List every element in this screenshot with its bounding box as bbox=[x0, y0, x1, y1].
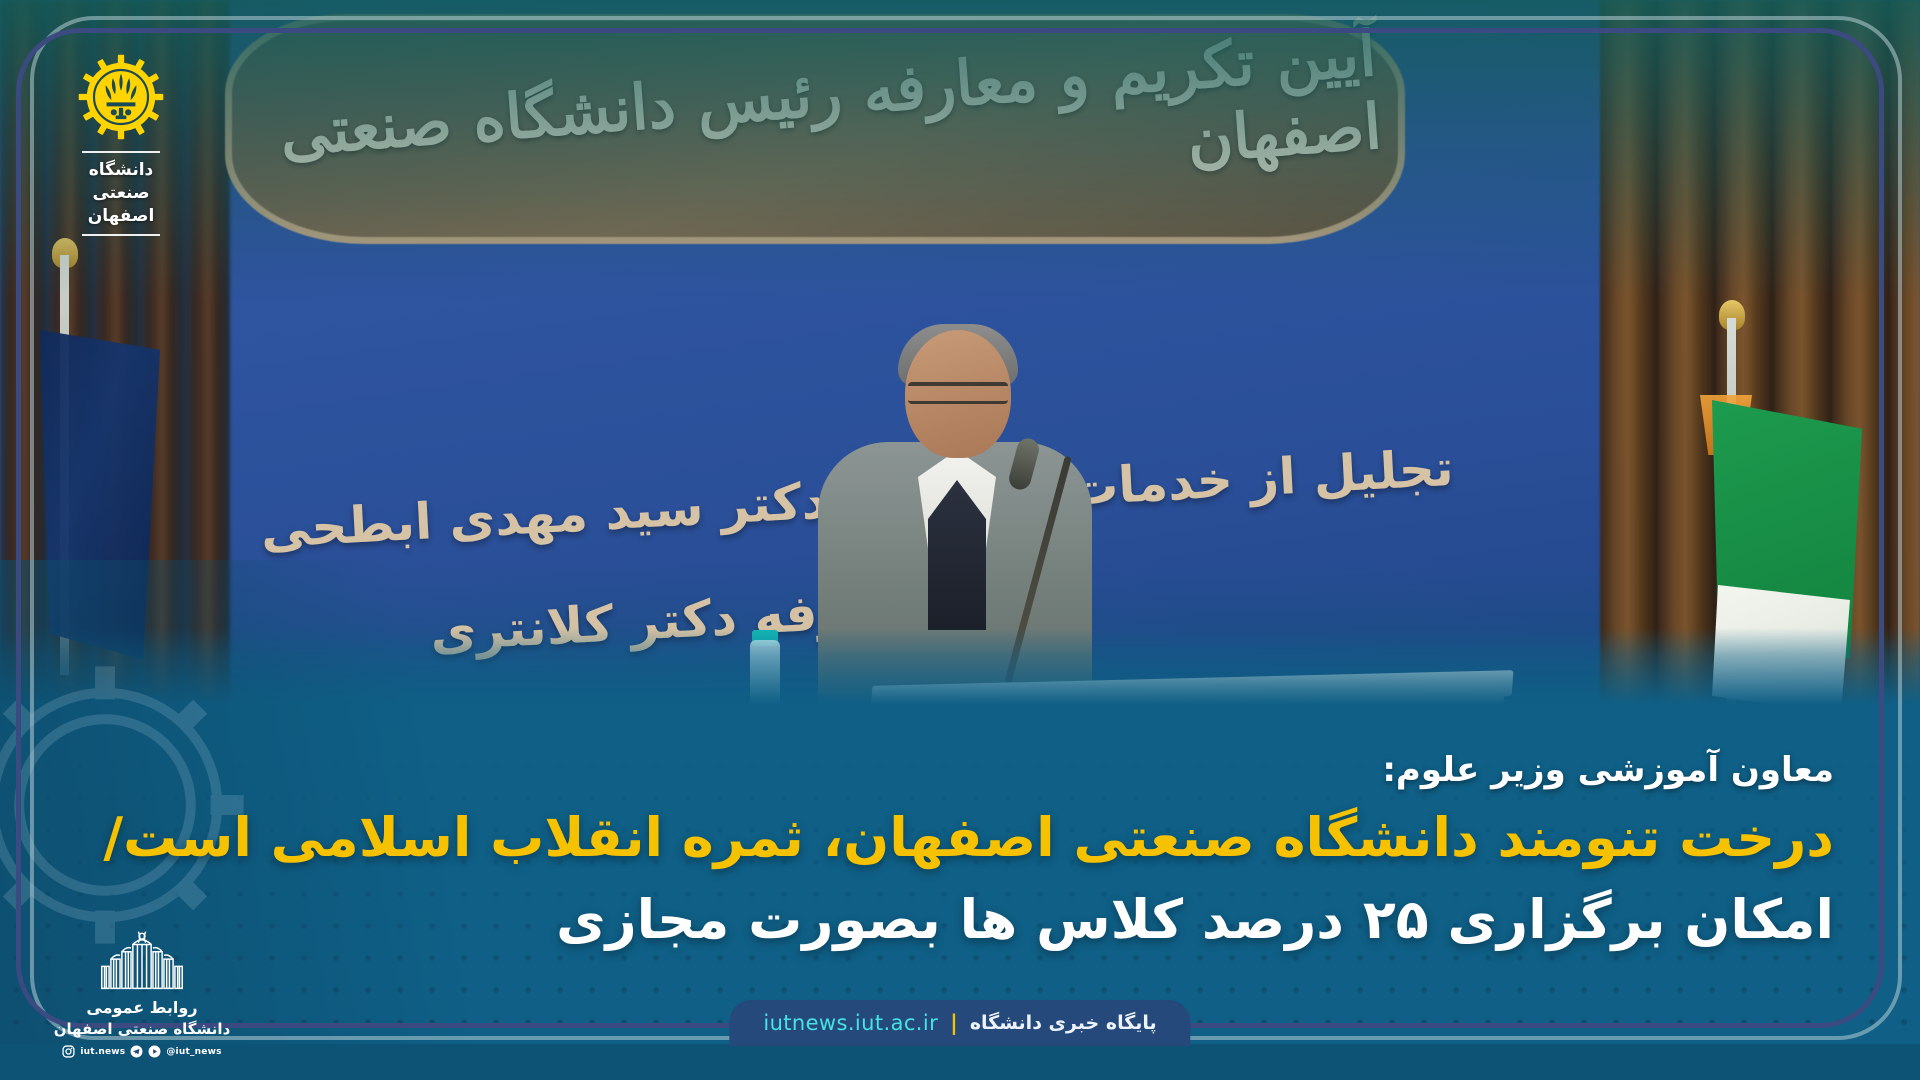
headline-kicker: معاون آموزشی وزیر علوم: bbox=[1382, 750, 1834, 790]
footer-site-label: پایگاه خبری دانشگاه bbox=[970, 1012, 1157, 1034]
pr-social-row: iut.news @iut_news bbox=[52, 1045, 232, 1058]
headline-line-2: امکان برگزاری ۲۵ درصد کلاس ها بصورت مجاز… bbox=[150, 888, 1834, 951]
telegram-icon[interactable] bbox=[130, 1045, 143, 1058]
iut-towers-emblem-icon bbox=[86, 928, 198, 992]
university-name-line2: صنعتی bbox=[62, 182, 180, 205]
footer-site-tab[interactable]: پایگاه خبری دانشگاه | iutnews.iut.ac.ir bbox=[729, 1000, 1190, 1046]
instagram-icon[interactable] bbox=[62, 1045, 75, 1058]
aparat-icon[interactable] bbox=[148, 1045, 161, 1058]
university-name-line1: دانشگاه bbox=[62, 159, 180, 182]
logo-divider-bottom bbox=[82, 234, 160, 236]
iut-gear-emblem-icon bbox=[76, 52, 166, 142]
university-logo: دانشگاه صنعتی اصفهان bbox=[62, 52, 180, 236]
news-banner-poster: آیین تکریم و معارفه رئیس دانشگاه صنعتی ا… bbox=[0, 0, 1920, 1080]
public-relations-logo: روابط عمومی دانشگاه صنعتی اصفهان iut.new… bbox=[52, 928, 232, 1058]
university-name-line3: اصفهان bbox=[62, 205, 180, 228]
pr-logo-line1: روابط عمومی bbox=[52, 998, 232, 1017]
pr-logo-line2: دانشگاه صنعتی اصفهان bbox=[52, 1020, 232, 1038]
footer-site-url[interactable]: iutnews.iut.ac.ir bbox=[763, 1011, 938, 1035]
footer-bar bbox=[0, 1044, 1920, 1080]
eyeglasses-icon bbox=[908, 382, 1008, 404]
footer-separator: | bbox=[950, 1011, 958, 1035]
logo-divider-top bbox=[82, 151, 160, 153]
instagram-handle[interactable]: iut.news bbox=[80, 1047, 125, 1057]
university-name: دانشگاه صنعتی اصفهان bbox=[62, 159, 180, 227]
headline-line-1: درخت تنومند دانشگاه صنعتی اصفهان، ثمره ا… bbox=[150, 806, 1834, 869]
social-handle[interactable]: @iut_news bbox=[166, 1047, 221, 1057]
